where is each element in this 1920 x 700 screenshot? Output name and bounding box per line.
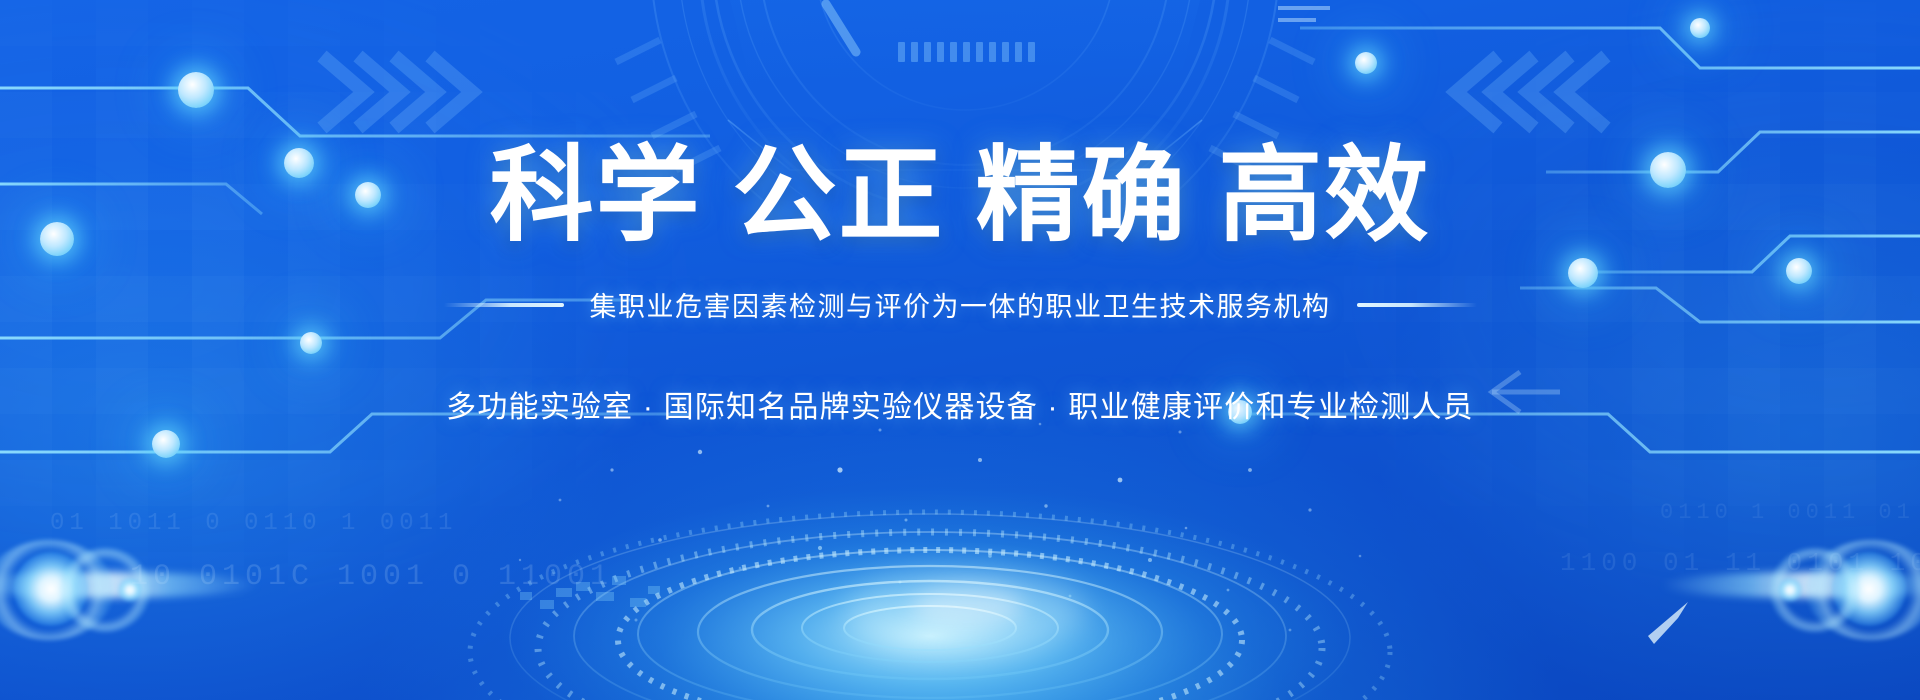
- divider-left: [444, 303, 564, 307]
- code-strip: 1100 01 11 0101 100: [1560, 548, 1920, 578]
- banner-content: 科学 公正 精确 高效 集职业危害因素检测与评价为一体的职业卫生技术服务机构 多…: [0, 0, 1920, 426]
- banner-subtitle: 集职业危害因素检测与评价为一体的职业卫生技术服务机构: [590, 285, 1331, 324]
- circuit-node: [152, 430, 180, 458]
- lens-flare-right-dot: [1778, 578, 1802, 602]
- code-strip: 10 0101C 1001 0 11001: [130, 560, 613, 594]
- code-strip: 01 1011 0 0110 1 0011: [50, 510, 457, 537]
- banner-tagline: 多功能实验室 · 国际知名品牌实验仪器设备 · 职业健康评价和专业检测人员: [446, 382, 1474, 426]
- page-title: 科学 公正 精确 高效: [490, 143, 1431, 249]
- code-strip: 0110 1 0011 01 1101: [1660, 500, 1920, 525]
- subtitle-row: 集职业危害因素检测与评价为一体的职业卫生技术服务机构: [444, 285, 1477, 324]
- divider-right: [1357, 303, 1477, 307]
- promo-banner: 10 0101C 1001 0 11001 01 1011 0 0110 1 0…: [0, 0, 1920, 700]
